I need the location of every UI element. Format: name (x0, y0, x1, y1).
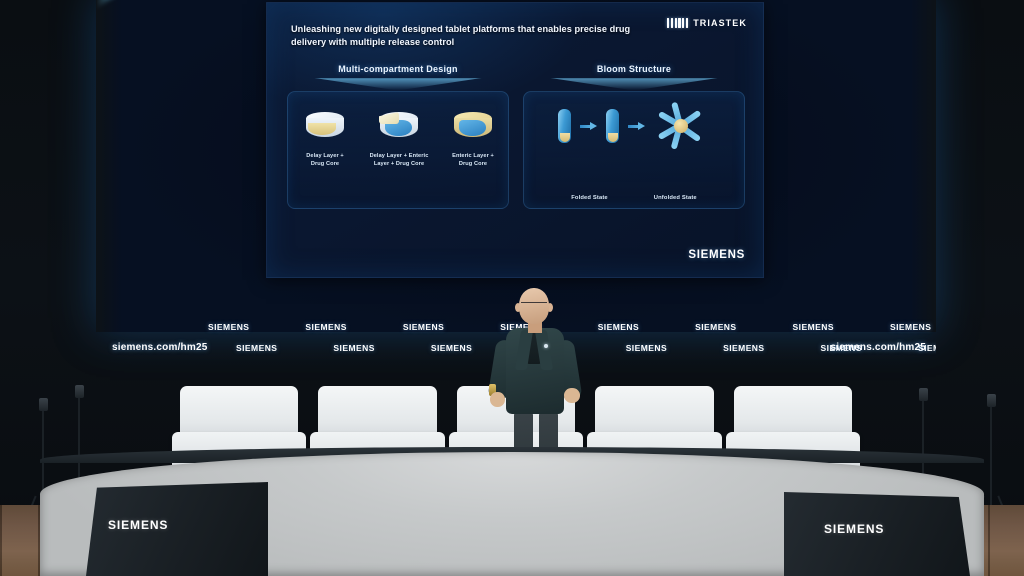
panel-heading: Bloom Structure (524, 64, 744, 74)
stand-head-icon (919, 388, 928, 401)
banner-siemens-mark: SIEMENS (723, 343, 764, 353)
stage-scene: SIEMENSSIEMENSSIEMENSSIEMENSSIEMENSSIEME… (0, 0, 1024, 576)
arrow-right-icon (580, 122, 597, 131)
tablet-label: Enteric Layer +Drug Core (436, 152, 510, 169)
banner-siemens-mark: SIEMENS (598, 322, 639, 332)
stand-head-icon (987, 394, 996, 407)
banner-siemens-mark: SIEMENS (793, 322, 834, 332)
tablet-item: Delay Layer + EntericLayer + Drug Core (362, 106, 436, 169)
tablet-label: Delay Layer + EntericLayer + Drug Core (362, 152, 436, 169)
glasses-icon (521, 302, 547, 308)
banner-siemens-mark: SIEMENS (431, 343, 472, 353)
speaker-hand-left (490, 392, 505, 407)
bloom-label: Folded State (571, 195, 608, 201)
banner-siemens-mark: SIEMENS (695, 322, 736, 332)
panel-chevron-icon (550, 78, 717, 90)
presentation-slide: Unleashing new digitally designed tablet… (266, 2, 764, 278)
folded-capsule-icon (606, 109, 619, 143)
barrier-siemens-logo: SIEMENS (824, 522, 884, 536)
tablet-row: Delay Layer +Drug Core Delay Layer + Ent… (288, 106, 508, 169)
triastek-logo: TRIASTEK (667, 18, 747, 28)
banner-siemens-mark: SIEMENS (333, 343, 374, 353)
tablet-cream-blue-wedge-icon (376, 106, 422, 146)
barrier-siemens-logo: SIEMENS (108, 518, 168, 532)
stage-barrier-right: SIEMENS (784, 492, 970, 576)
panel-heading: Multi-compartment Design (288, 64, 508, 74)
speaker-lapel-pin (544, 344, 548, 348)
triastek-bars-icon (667, 18, 688, 28)
tablet-item: Enteric Layer +Drug Core (436, 106, 510, 169)
tablet-white-cream-core-icon (302, 106, 348, 146)
stage-barrier-left: SIEMENS (86, 482, 268, 576)
light-stand-right-b (990, 394, 992, 520)
stand-head-icon (39, 398, 48, 411)
stand-head-icon (75, 385, 84, 398)
wall-edge-right (910, 0, 936, 332)
banner-siemens-mark: SIEMENS (403, 322, 444, 332)
slide-siemens-logo: SIEMENS (688, 249, 745, 261)
bloom-label: Unfolded State (654, 195, 697, 201)
arrow-right-icon (628, 122, 645, 131)
folded-capsule-icon (558, 109, 571, 143)
banner-siemens-mark: SIEMENS (236, 343, 277, 353)
panel-multi-compartment-design: Multi-compartment Design Delay Layer +Dr… (287, 91, 509, 209)
banner-url-right: siemens.com/hm25 (831, 342, 926, 353)
tablet-label: Delay Layer +Drug Core (288, 152, 362, 169)
banner-siemens-mark: SIEMENS (626, 343, 667, 353)
slide-title: Unleashing new digitally designed tablet… (291, 23, 641, 50)
banner-siemens-mark: SIEMENS (890, 322, 931, 332)
bloom-labels: Folded State Unfolded State (524, 195, 744, 201)
panel-bloom-structure: Bloom Structure Folded Stat (523, 91, 745, 209)
banner-siemens-mark: SIEMENS (208, 322, 249, 332)
panel-chevron-icon (314, 78, 481, 90)
slide-panels: Multi-compartment Design Delay Layer +Dr… (287, 91, 745, 209)
triastek-wordmark: TRIASTEK (693, 18, 747, 28)
tablet-item: Delay Layer +Drug Core (288, 106, 362, 169)
banner-url-left: siemens.com/hm25 (112, 342, 207, 353)
wall-edge-left (96, 0, 122, 332)
banner-siemens-mark: SIEMENS (305, 322, 346, 332)
bloom-row (524, 108, 744, 144)
unfolded-star-icon (654, 108, 710, 144)
tablet-cream-blue-core-icon (450, 106, 496, 146)
speaker-hand-right (564, 388, 580, 403)
